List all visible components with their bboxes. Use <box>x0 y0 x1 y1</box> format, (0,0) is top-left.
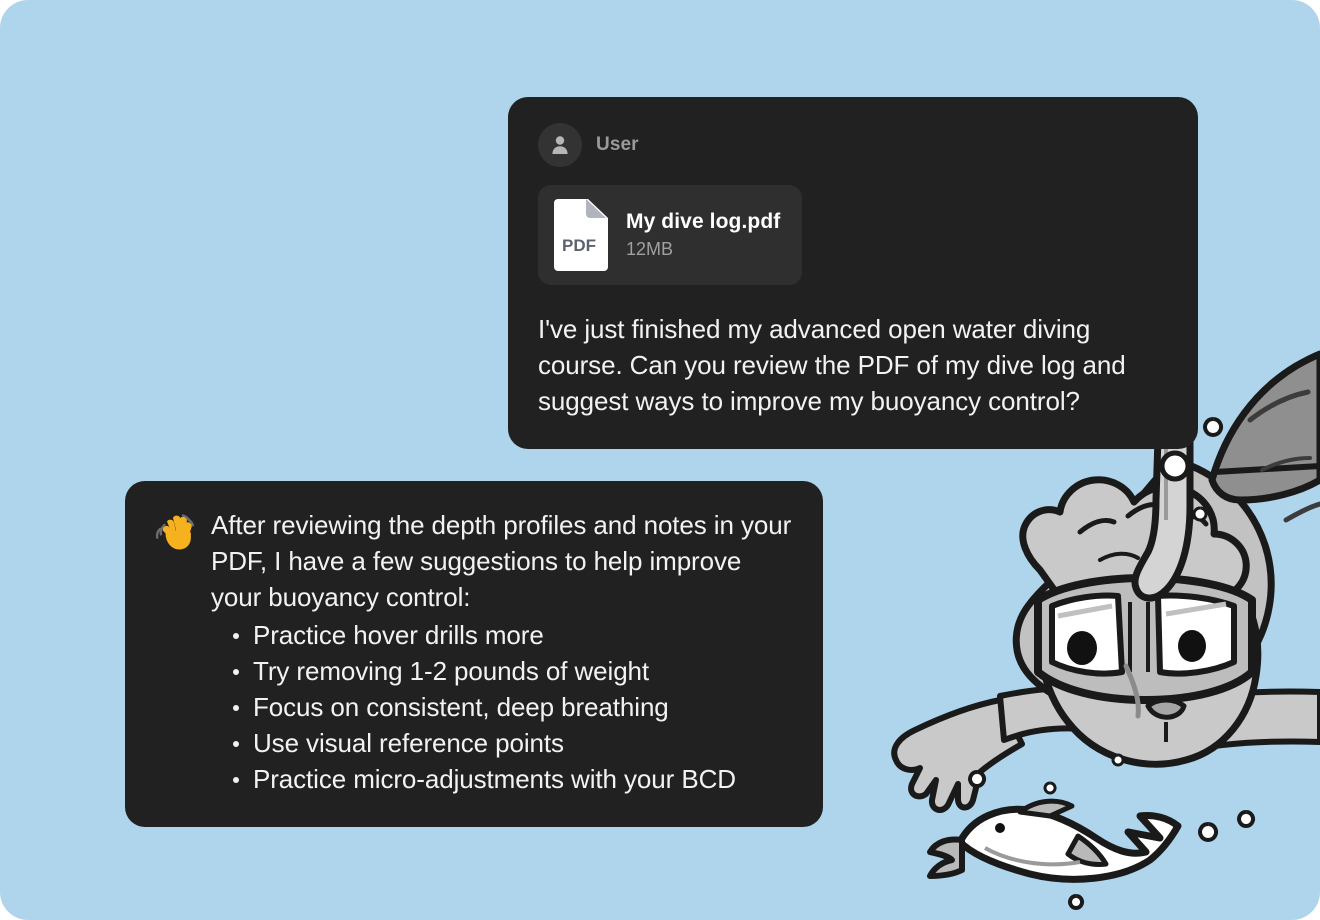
snorkeler-head <box>1023 480 1258 764</box>
snorkeler-wetsuit-sleeve <box>1212 354 1320 520</box>
air-bubbles <box>970 391 1253 908</box>
assistant-content: After reviewing the depth profiles and n… <box>211 507 793 797</box>
snorkeler-right-arm <box>1175 691 1320 752</box>
message-header: User <box>538 123 1168 167</box>
svg-text:PDF: PDF <box>562 236 596 255</box>
waving-hand-emoji <box>153 509 197 553</box>
message-author: User <box>596 134 639 156</box>
attachment-file-size: 12MB <box>626 239 780 260</box>
list-item: Try removing 1-2 pounds of weight <box>211 653 793 689</box>
chat-canvas: User PDF My dive log.pdf 12MB I've just … <box>0 0 1320 920</box>
snorkeler-left-arm <box>894 688 1092 810</box>
assistant-message-bubble: After reviewing the depth profiles and n… <box>125 481 823 827</box>
assistant-intro-text: After reviewing the depth profiles and n… <box>211 507 793 615</box>
pdf-file-icon: PDF <box>552 199 610 271</box>
list-item: Focus on consistent, deep breathing <box>211 689 793 725</box>
list-item: Practice hover drills more <box>211 617 793 653</box>
list-item: Practice micro-adjustments with your BCD <box>211 761 793 797</box>
list-item: Use visual reference points <box>211 725 793 761</box>
fish <box>930 801 1178 879</box>
attachment-meta: My dive log.pdf 12MB <box>626 210 780 260</box>
avatar <box>538 123 582 167</box>
user-message-bubble: User PDF My dive log.pdf 12MB I've just … <box>508 97 1198 449</box>
attachment-card[interactable]: PDF My dive log.pdf 12MB <box>538 185 802 285</box>
user-message-text: I've just finished my advanced open wate… <box>538 311 1168 419</box>
assistant-body: After reviewing the depth profiles and n… <box>153 507 793 797</box>
snorkeler-torso <box>1016 460 1271 713</box>
attachment-file-name: My dive log.pdf <box>626 210 780 234</box>
suggestion-list: Practice hover drills more Try removing … <box>211 617 793 797</box>
person-icon <box>549 134 571 156</box>
